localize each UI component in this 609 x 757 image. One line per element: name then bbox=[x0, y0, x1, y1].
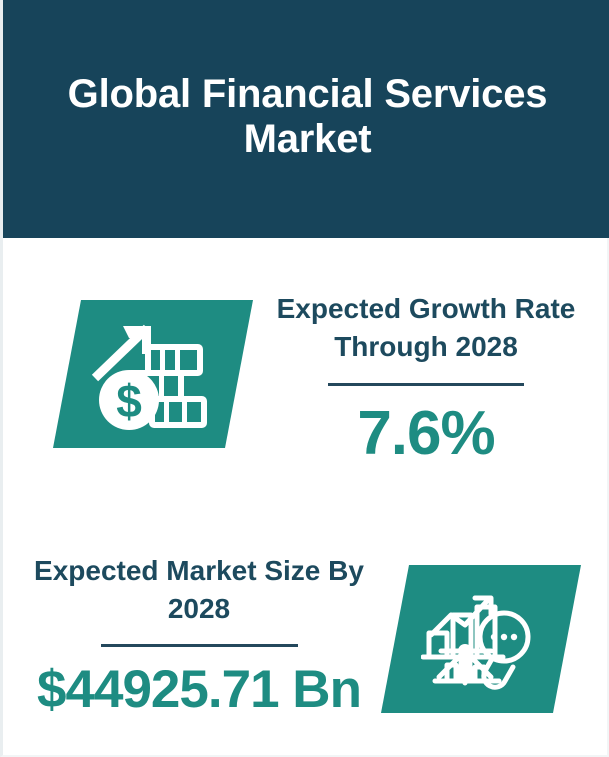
chart-magnifier-icon bbox=[421, 585, 541, 693]
market-divider bbox=[101, 644, 298, 647]
growth-icon-tile: $ bbox=[53, 300, 253, 448]
market-stat-block: Expected Market Size By 2028 $44925.71 B… bbox=[31, 552, 367, 720]
growth-heading: Expected Growth Rate Through 2028 bbox=[261, 290, 591, 366]
market-value: $44925.71 Bn bbox=[31, 659, 367, 720]
growth-divider bbox=[328, 383, 524, 386]
svg-text:$: $ bbox=[116, 375, 142, 427]
header-band: Global Financial Services Market bbox=[3, 0, 609, 238]
infographic-card: Global Financial Services Market bbox=[0, 0, 609, 757]
growth-stat-block: Expected Growth Rate Through 2028 7.6% bbox=[261, 290, 591, 469]
market-icon-tile bbox=[381, 565, 581, 713]
growth-value: 7.6% bbox=[261, 398, 591, 469]
growth-money-icon: $ bbox=[89, 318, 217, 430]
market-heading: Expected Market Size By 2028 bbox=[31, 552, 367, 628]
page-title: Global Financial Services Market bbox=[3, 72, 609, 162]
